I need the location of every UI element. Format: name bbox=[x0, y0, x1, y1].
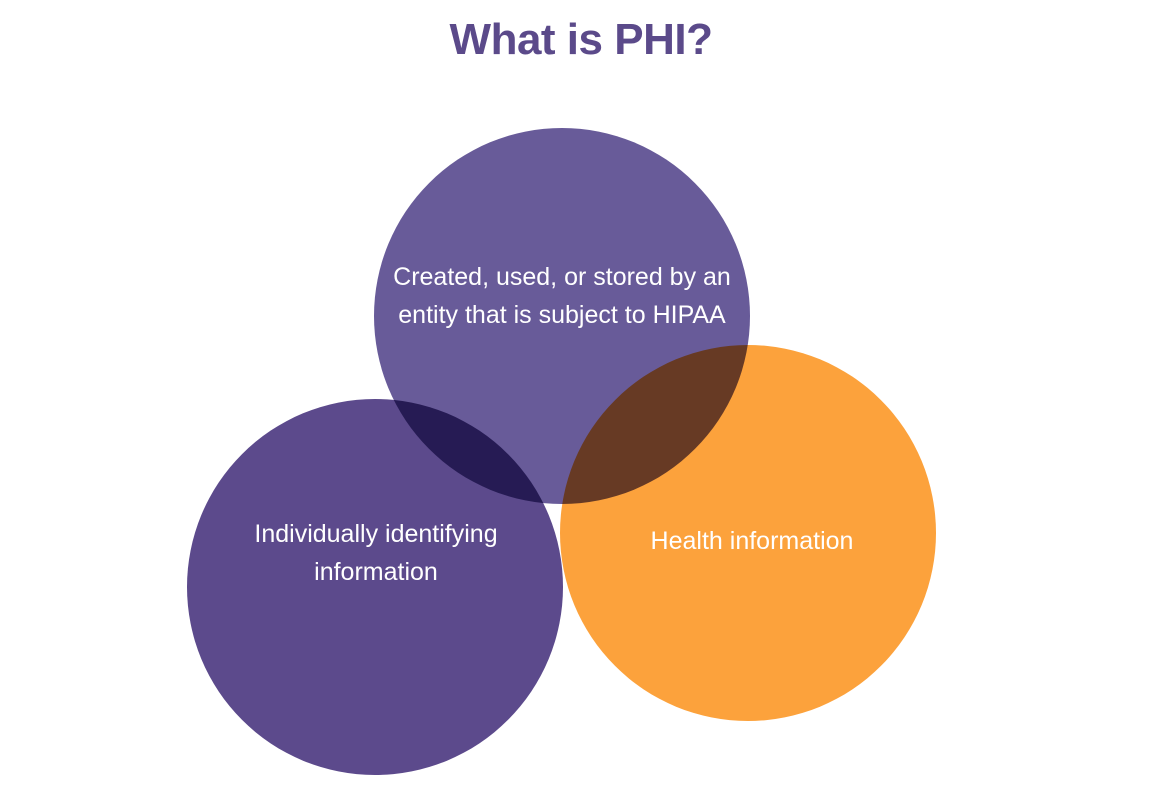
venn-diagram-page: What is PHI? Created, used, or stored by… bbox=[0, 0, 1162, 794]
venn-diagram: Created, used, or stored by an entity th… bbox=[0, 0, 1162, 794]
venn-label-individually-identifying: Individually identifying information bbox=[206, 515, 546, 591]
venn-label-hipaa-entity: Created, used, or stored by an entity th… bbox=[372, 258, 752, 334]
venn-label-health-information: Health information bbox=[612, 522, 892, 560]
venn-circles-svg bbox=[0, 0, 1162, 794]
